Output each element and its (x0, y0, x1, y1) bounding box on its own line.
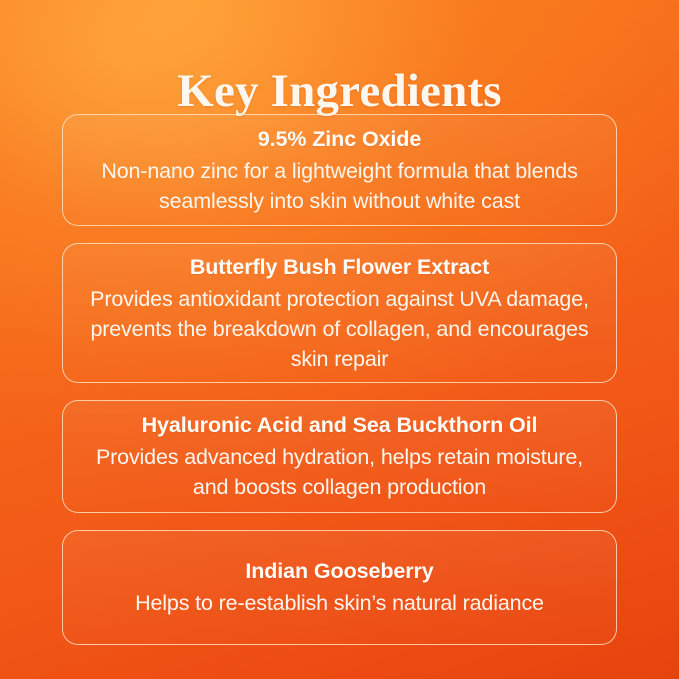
ingredient-card: 9.5% Zinc Oxide Non-nano zinc for a ligh… (62, 114, 617, 226)
ingredients-poster: Key Ingredients 9.5% Zinc Oxide Non-nano… (0, 0, 679, 679)
ingredient-name: Butterfly Bush Flower Extract (190, 253, 489, 281)
ingredient-description: Helps to re-establish skin’s natural rad… (135, 588, 544, 618)
page-title: Key Ingredients (0, 65, 679, 117)
ingredient-card: Hyaluronic Acid and Sea Buckthorn Oil Pr… (62, 400, 617, 513)
ingredient-name: Indian Gooseberry (245, 557, 433, 585)
ingredient-description: Provides antioxidant protection against … (90, 284, 590, 374)
poster-content: Key Ingredients 9.5% Zinc Oxide Non-nano… (0, 0, 679, 679)
ingredient-description: Provides advanced hydration, helps retai… (90, 442, 590, 502)
ingredient-card: Butterfly Bush Flower Extract Provides a… (62, 243, 617, 383)
ingredient-description: Non-nano zinc for a lightweight formula … (90, 156, 590, 216)
ingredient-name: Hyaluronic Acid and Sea Buckthorn Oil (142, 411, 538, 439)
ingredient-card: Indian Gooseberry Helps to re-establish … (62, 530, 617, 645)
ingredient-name: 9.5% Zinc Oxide (258, 125, 421, 153)
